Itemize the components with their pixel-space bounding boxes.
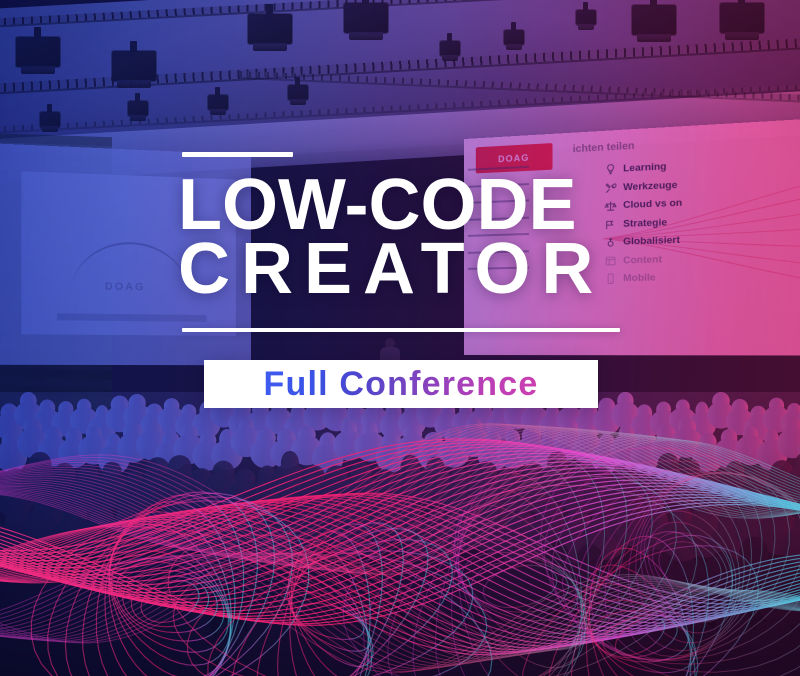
wave-line-graphic: [0, 372, 800, 676]
poster-canvas: DOAG DOAG ichten teilen: [0, 0, 800, 676]
